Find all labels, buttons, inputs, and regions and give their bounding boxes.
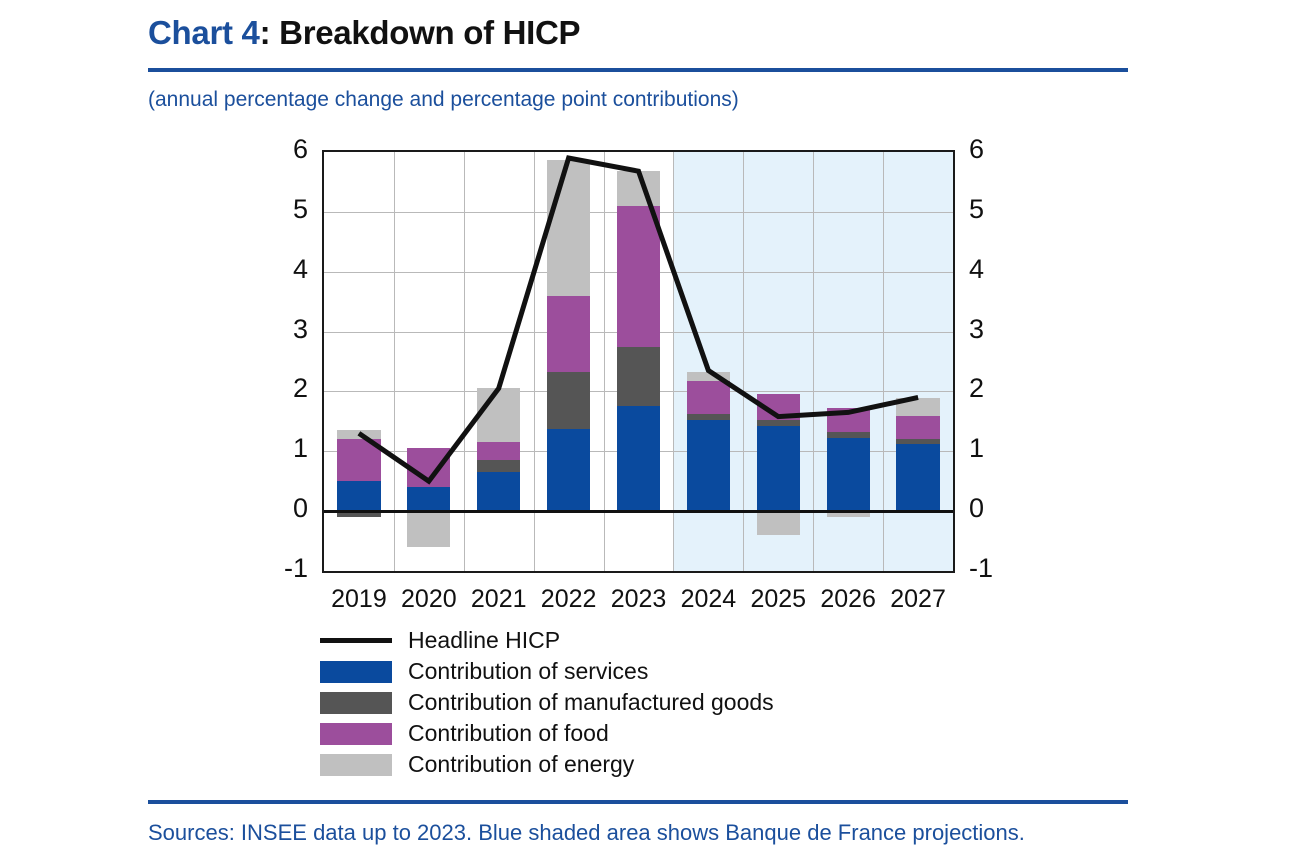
- legend-item-label: Headline HICP: [408, 627, 560, 654]
- legend-item-label: Contribution of manufactured goods: [408, 689, 774, 716]
- chart-legend: Headline HICPContribution of servicesCon…: [320, 625, 774, 780]
- bar-segment: [757, 420, 800, 425]
- bar-segment: [407, 448, 450, 487]
- bar-segment: [547, 429, 590, 512]
- bar-segment: [757, 426, 800, 512]
- bar-segment: [547, 160, 590, 296]
- legend-swatch-icon: [320, 692, 392, 714]
- bar-segment: [477, 442, 520, 460]
- legend-item: Contribution of manufactured goods: [320, 687, 774, 718]
- bar-segment: [617, 206, 660, 347]
- legend-swatch-icon: [320, 723, 392, 745]
- bar-segment: [407, 487, 450, 511]
- bar-segment: [896, 439, 939, 444]
- plot-area: [322, 150, 955, 573]
- bar-segment: [477, 388, 520, 442]
- legend-item-label: Contribution of food: [408, 720, 609, 747]
- y-axis-tick-label-right: 5: [969, 194, 1041, 225]
- y-axis-tick-label-right: -1: [969, 553, 1041, 584]
- bar-segment: [896, 444, 939, 511]
- legend-item-label: Contribution of services: [408, 658, 648, 685]
- bar-segment: [407, 511, 450, 547]
- y-axis-tick-label-right: 2: [969, 373, 1041, 404]
- legend-item: Headline HICP: [320, 625, 774, 656]
- bar-segment: [337, 430, 380, 439]
- bar-segment: [617, 406, 660, 511]
- bar-segment: [687, 414, 730, 420]
- bar-segment: [477, 460, 520, 472]
- bar-segment: [827, 438, 870, 511]
- legend-item: Contribution of services: [320, 656, 774, 687]
- sources-note: Sources: INSEE data up to 2023. Blue sha…: [148, 820, 1025, 846]
- y-axis-tick-label-left: 0: [236, 493, 308, 524]
- y-axis-tick-label-right: 6: [969, 134, 1041, 165]
- legend-item: Contribution of energy: [320, 749, 774, 780]
- y-axis-tick-label-right: 1: [969, 433, 1041, 464]
- y-axis-tick-label-left: 5: [236, 194, 308, 225]
- gridline-vertical: [883, 152, 884, 571]
- legend-line-icon: [320, 630, 392, 652]
- bar-segment: [757, 394, 800, 420]
- bar-segment: [687, 420, 730, 512]
- gridline-vertical: [604, 152, 605, 571]
- y-axis-tick-label-right: 4: [969, 254, 1041, 285]
- bar-segment: [617, 347, 660, 407]
- y-axis-tick-label-right: 0: [969, 493, 1041, 524]
- legend-item-label: Contribution of energy: [408, 751, 634, 778]
- y-axis-tick-label-right: 3: [969, 314, 1041, 345]
- legend-swatch-icon: [320, 754, 392, 776]
- legend-item: Contribution of food: [320, 718, 774, 749]
- gridline-vertical: [743, 152, 744, 571]
- gridline-vertical: [394, 152, 395, 571]
- bar-segment: [896, 398, 939, 416]
- bar-segment: [617, 171, 660, 206]
- y-axis-tick-label-left: 4: [236, 254, 308, 285]
- bar-segment: [827, 432, 870, 438]
- bar-segment: [827, 408, 870, 432]
- chart-page: Chart 4: Breakdown of HICP (annual perce…: [0, 0, 1300, 866]
- bar-segment: [757, 511, 800, 535]
- gridline-vertical: [534, 152, 535, 571]
- bar-segment: [477, 472, 520, 511]
- bar-segment: [687, 381, 730, 414]
- footer-divider: [148, 800, 1128, 804]
- legend-swatch-icon: [320, 661, 392, 683]
- bar-segment: [337, 481, 380, 511]
- x-axis-tick-label: 2027: [868, 585, 968, 614]
- bar-segment: [547, 372, 590, 429]
- bar-segment: [896, 416, 939, 439]
- y-axis-tick-label-left: 6: [236, 134, 308, 165]
- bar-segment: [547, 296, 590, 372]
- bar-segment: [337, 439, 380, 481]
- y-axis-tick-label-left: -1: [236, 553, 308, 584]
- y-axis-tick-label-left: 2: [236, 373, 308, 404]
- bar-segment: [687, 372, 730, 381]
- y-axis-tick-label-left: 3: [236, 314, 308, 345]
- gridline-vertical: [813, 152, 814, 571]
- gridline-vertical: [673, 152, 674, 571]
- zero-axis-line: [324, 510, 953, 513]
- gridline-vertical: [464, 152, 465, 571]
- y-axis-tick-label-left: 1: [236, 433, 308, 464]
